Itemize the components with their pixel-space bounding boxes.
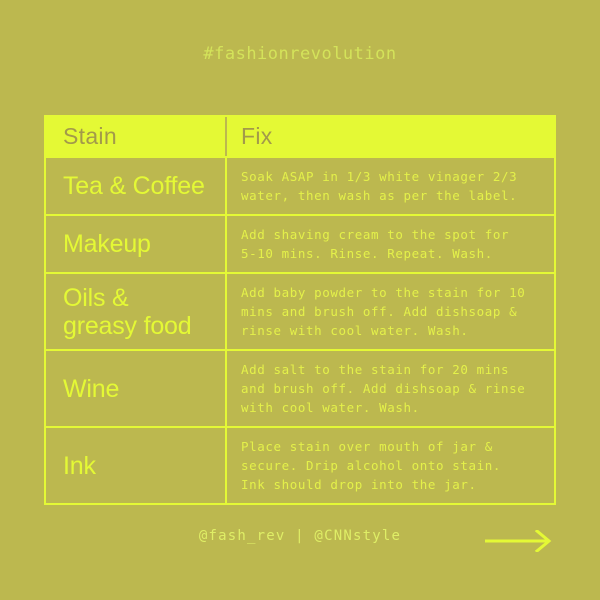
table-cell-fix: Add shaving cream to the spot for 5-10 m…: [227, 216, 554, 272]
stain-name: Ink: [63, 452, 96, 480]
fix-instructions: Add salt to the stain for 20 mins and br…: [241, 360, 525, 417]
table-header-cell-stain: Stain: [46, 117, 227, 156]
column-header-stain: Stain: [63, 124, 117, 149]
footer: @fash_rev | @CNNstyle: [0, 528, 600, 558]
table-cell-fix: Soak ASAP in 1/3 white vinager 2/3 water…: [227, 158, 554, 214]
table-cell-stain: Wine: [46, 351, 227, 426]
stain-name: Wine: [63, 375, 119, 403]
hashtag-title: #fashionrevolution: [0, 44, 600, 64]
table-row: Ink Place stain over mouth of jar & secu…: [46, 428, 554, 503]
table-cell-stain: Ink: [46, 428, 227, 503]
stain-name: Makeup: [63, 230, 151, 258]
stain-name: Oils & greasy food: [63, 284, 191, 340]
table-cell-fix: Add baby powder to the stain for 10 mins…: [227, 274, 554, 349]
table-header-cell-fix: Fix: [227, 117, 554, 156]
table-cell-stain: Oils & greasy food: [46, 274, 227, 349]
fix-instructions: Place stain over mouth of jar & secure. …: [241, 437, 501, 494]
table-row: Oils & greasy food Add baby powder to th…: [46, 274, 554, 351]
table-cell-fix: Place stain over mouth of jar & secure. …: [227, 428, 554, 503]
table-cell-stain: Tea & Coffee: [46, 158, 227, 214]
table-row: Wine Add salt to the stain for 20 mins a…: [46, 351, 554, 428]
fix-instructions: Add shaving cream to the spot for 5-10 m…: [241, 225, 509, 263]
stain-name: Tea & Coffee: [63, 172, 205, 200]
poster-canvas: #fashionrevolution Stain Fix Tea & Coffe…: [0, 0, 600, 600]
table-row: Tea & Coffee Soak ASAP in 1/3 white vina…: [46, 158, 554, 216]
column-header-fix: Fix: [241, 124, 273, 149]
table-cell-fix: Add salt to the stain for 20 mins and br…: [227, 351, 554, 426]
stain-fix-table: Stain Fix Tea & Coffee Soak ASAP in 1/3 …: [44, 115, 556, 505]
table-cell-stain: Makeup: [46, 216, 227, 272]
table-row: Makeup Add shaving cream to the spot for…: [46, 216, 554, 274]
table-header-row: Stain Fix: [46, 117, 554, 158]
fix-instructions: Add baby powder to the stain for 10 mins…: [241, 283, 525, 340]
arrow-right-icon[interactable]: [485, 530, 553, 552]
fix-instructions: Soak ASAP in 1/3 white vinager 2/3 water…: [241, 167, 517, 205]
